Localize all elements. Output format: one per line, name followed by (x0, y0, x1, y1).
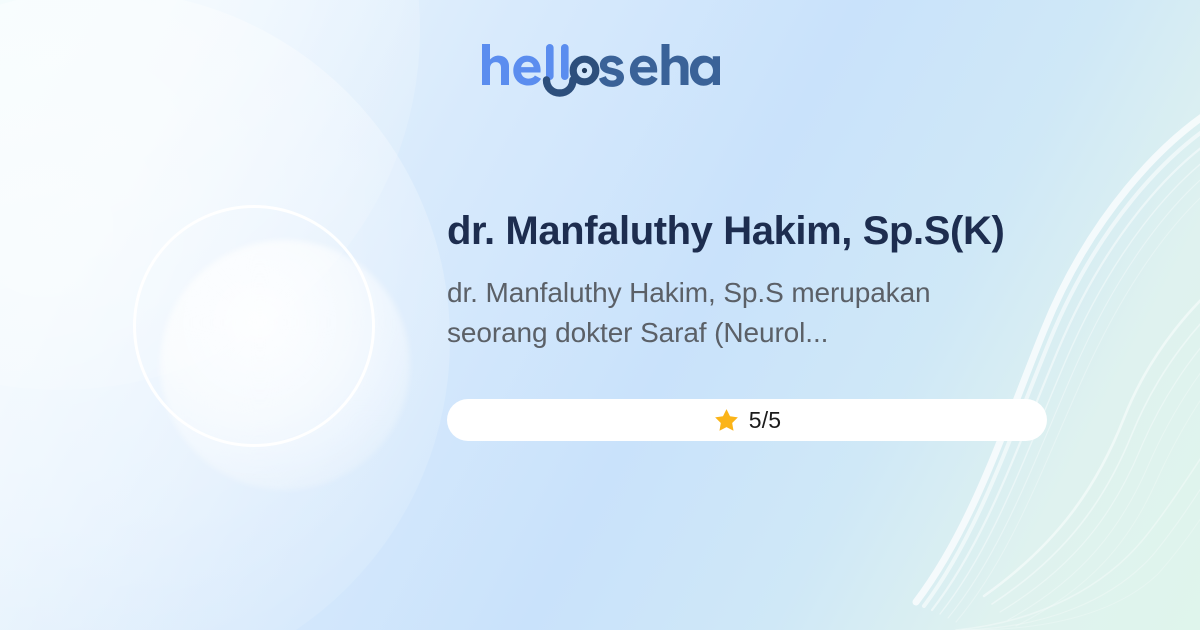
content-block: dr. Manfaluthy Hakim, Sp.S(K) dr. Manfal… (447, 205, 1049, 353)
page-description: dr. Manfaluthy Hakim, Sp.S merupakan seo… (447, 273, 1027, 353)
stethoscope-chestpiece (573, 59, 596, 82)
hellosehat-logo (0, 40, 1200, 102)
share-card: dr. Manfaluthy Hakim, Sp.S(K) dr. Manfal… (0, 0, 1200, 630)
page-title: dr. Manfaluthy Hakim, Sp.S(K) (447, 205, 1049, 257)
decorative-ring-outline (133, 205, 375, 447)
rating-badge: 5/5 (447, 399, 1047, 441)
star-icon (713, 407, 740, 434)
rating-value: 5/5 (749, 409, 782, 432)
decorative-circle-inner (160, 240, 410, 490)
